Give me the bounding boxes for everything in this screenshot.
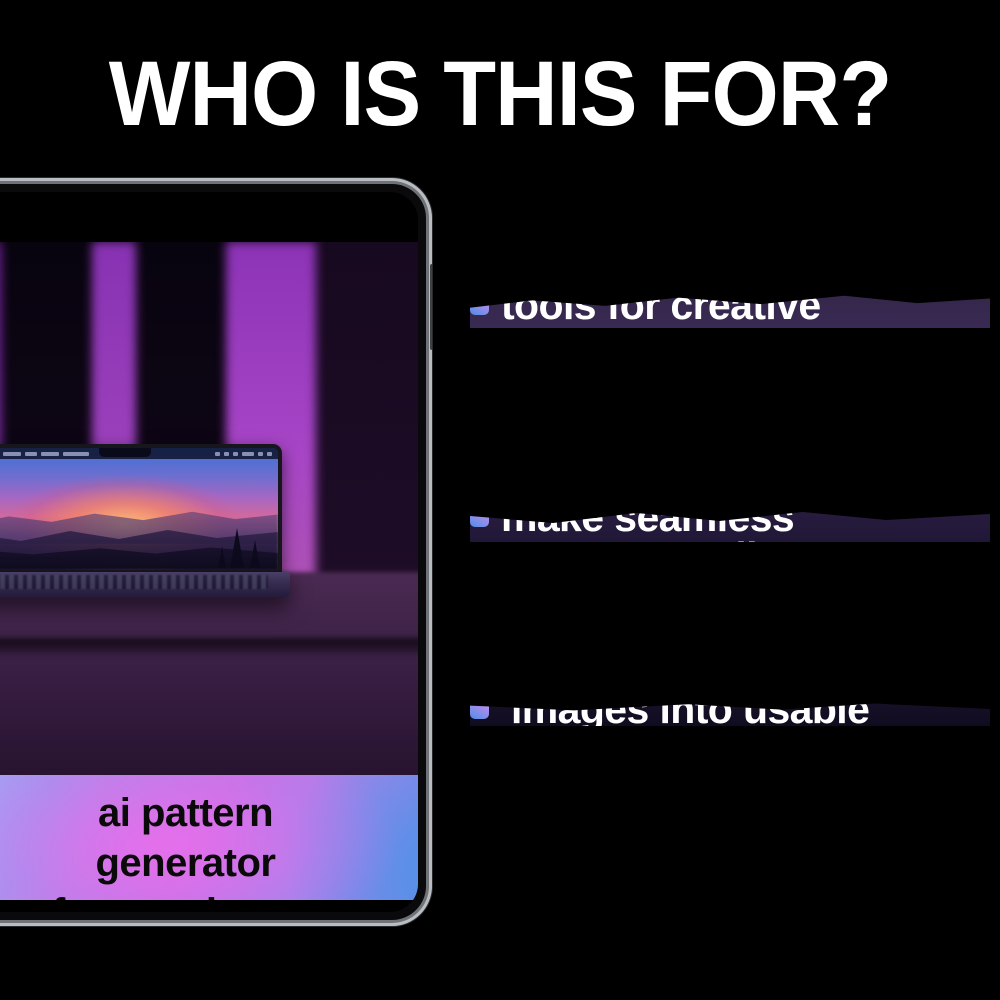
tablet-screen: ai pattern generator from an image xyxy=(0,242,418,900)
menubar-status-items xyxy=(215,452,272,456)
list-item-line: images into usable xyxy=(511,689,869,729)
list-item-text: Anyone exploring AI tools for creative d… xyxy=(501,245,887,365)
laptop-lid xyxy=(0,444,282,574)
battery-icon xyxy=(233,452,238,456)
list-item-line: Anyone turning xyxy=(511,649,869,689)
laptop-base xyxy=(0,572,290,598)
laptop-illustration xyxy=(0,444,290,604)
list-item-line: Anyone exploring AI xyxy=(501,245,887,285)
list-item-line: digital assets xyxy=(511,729,869,769)
laptop-menubar xyxy=(0,448,278,459)
list-item-line: tools for creative xyxy=(501,285,887,325)
list-item-line: make seamless xyxy=(501,497,873,537)
audience-bullet-list: Anyone exploring AI tools for creative d… xyxy=(470,268,990,848)
status-icon xyxy=(215,452,220,456)
bullet-square-icon xyxy=(470,508,489,527)
laptop-screen-wallpaper xyxy=(0,448,278,570)
caption-line-1: ai pattern xyxy=(98,788,273,838)
list-item-text: Anyone turning images into usable digita… xyxy=(511,649,869,769)
laptop-keyboard xyxy=(0,575,268,589)
control-center-icon xyxy=(267,452,272,456)
search-icon xyxy=(258,452,263,456)
menubar-item xyxy=(3,452,21,456)
slide-root: WHO IS THIS FOR? xyxy=(0,0,1000,1000)
list-item-line: patterns easily xyxy=(501,537,873,577)
tablet-bezel: ai pattern generator from an image xyxy=(0,192,418,912)
caption-line-2: generator xyxy=(96,838,276,888)
desk-edge-shadow xyxy=(0,638,418,654)
list-item-line: design xyxy=(501,325,887,365)
wifi-icon xyxy=(224,452,229,456)
list-item-text: People who want to make seamless pattern… xyxy=(501,457,873,577)
device-side-button[interactable] xyxy=(430,264,432,350)
menubar-item xyxy=(41,452,59,456)
page-title: WHO IS THIS FOR? xyxy=(30,46,970,142)
caption-card: ai pattern generator from an image xyxy=(0,775,418,900)
caption-line-3: from an image xyxy=(52,888,319,901)
bullet-square-icon xyxy=(470,700,489,719)
bullet-square-icon xyxy=(470,296,489,315)
tablet-device-mockup: ai pattern generator from an image xyxy=(0,178,432,926)
menubar-item xyxy=(25,452,37,456)
list-item: People who want to make seamless pattern… xyxy=(470,492,990,542)
list-item: Anyone exploring AI tools for creative d… xyxy=(470,282,990,328)
list-item-line: People who want to xyxy=(501,457,873,497)
list-item: Anyone turning images into usable digita… xyxy=(470,692,990,726)
menubar-item xyxy=(63,452,89,456)
clock-icon xyxy=(242,452,254,456)
menubar-left-items xyxy=(0,452,89,456)
